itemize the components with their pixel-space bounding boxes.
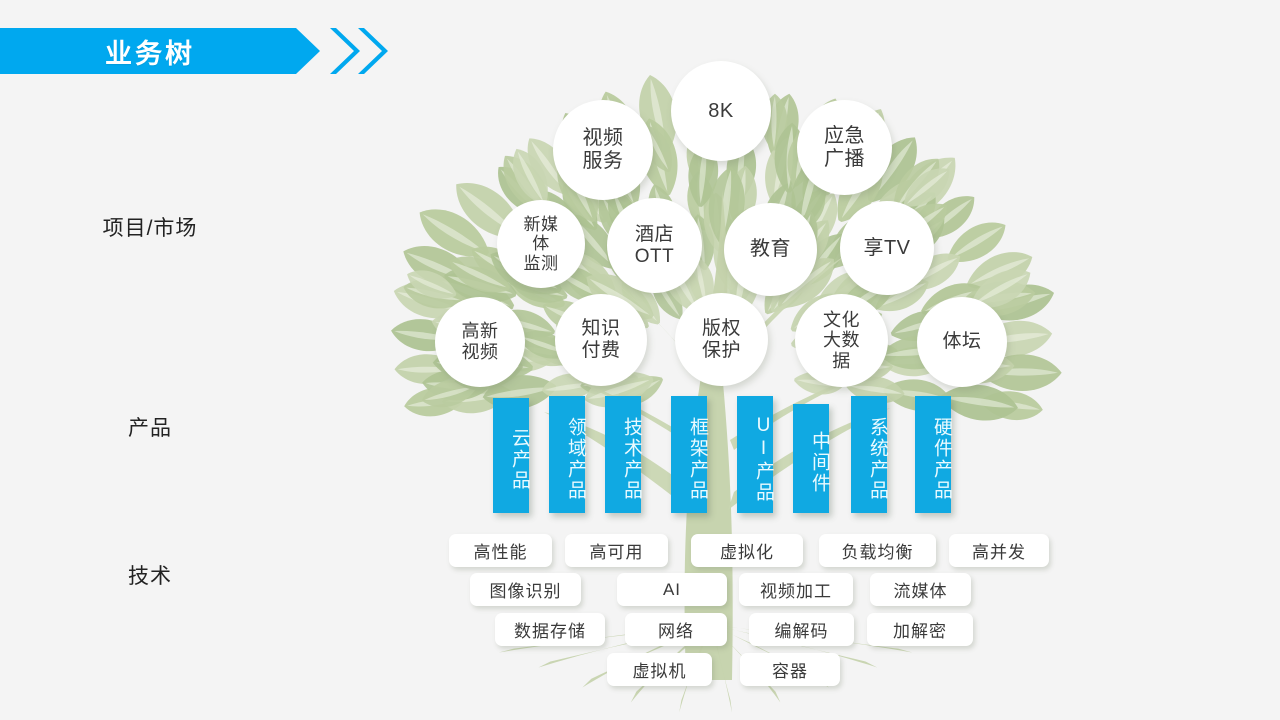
row-label-products: 产品 bbox=[128, 412, 172, 442]
technology-tag[interactable]: 负载均衡 bbox=[819, 534, 936, 567]
technology-tag[interactable]: 流媒体 bbox=[870, 573, 971, 606]
technology-tag[interactable]: 编解码 bbox=[749, 613, 854, 646]
technology-tag[interactable]: 数据存储 bbox=[495, 613, 605, 646]
product-bar[interactable]: 硬件产品 bbox=[915, 396, 951, 513]
product-bar[interactable]: UI产品 bbox=[737, 396, 773, 513]
page-title: 业务树 bbox=[0, 28, 300, 74]
project-node[interactable]: 高新 视频 bbox=[435, 297, 525, 387]
project-node[interactable]: 视频 服务 bbox=[553, 100, 653, 200]
product-bar[interactable]: 技术产品 bbox=[605, 396, 641, 513]
technology-tag[interactable]: 高可用 bbox=[565, 534, 668, 567]
product-bar[interactable]: 系统产品 bbox=[851, 396, 887, 513]
project-node[interactable]: 知识 付费 bbox=[555, 294, 647, 386]
project-node[interactable]: 应急 广播 bbox=[797, 100, 892, 195]
technology-tag[interactable]: 虚拟化 bbox=[691, 534, 803, 567]
title-banner: 业务树 bbox=[0, 28, 400, 74]
chevron-right-icon-2 bbox=[358, 28, 388, 74]
technology-tag[interactable]: 高并发 bbox=[949, 534, 1049, 567]
slide-canvas: 业务树 项目/市场产品技术 视频 服务8K应急 广播新媒 体 监测酒店 OTT教… bbox=[0, 0, 1280, 720]
technology-tag[interactable]: 高性能 bbox=[449, 534, 552, 567]
project-node[interactable]: 享TV bbox=[840, 201, 934, 295]
project-node[interactable]: 酒店 OTT bbox=[607, 198, 702, 293]
technology-tag[interactable]: 网络 bbox=[625, 613, 727, 646]
technology-tag[interactable]: 容器 bbox=[740, 653, 840, 686]
technology-tag[interactable]: 图像识别 bbox=[470, 573, 581, 606]
row-label-technology: 技术 bbox=[128, 560, 172, 590]
product-bar[interactable]: 框架产品 bbox=[671, 396, 707, 513]
technology-tag[interactable]: 视频加工 bbox=[739, 573, 853, 606]
product-bar[interactable]: 中间件 bbox=[793, 404, 829, 513]
product-bar[interactable]: 领域产品 bbox=[549, 396, 585, 513]
technology-tag[interactable]: 虚拟机 bbox=[607, 653, 712, 686]
chevron-right-icon-1 bbox=[330, 28, 360, 74]
project-node[interactable]: 新媒 体 监测 bbox=[497, 200, 585, 288]
project-node[interactable]: 教育 bbox=[724, 203, 817, 296]
project-node[interactable]: 体坛 bbox=[917, 297, 1007, 387]
product-bar[interactable]: 云产品 bbox=[493, 398, 529, 513]
project-node[interactable]: 版权 保护 bbox=[675, 293, 768, 386]
technology-tag[interactable]: AI bbox=[617, 573, 727, 606]
project-node[interactable]: 8K bbox=[671, 61, 771, 161]
project-node[interactable]: 文化 大数 据 bbox=[795, 294, 888, 387]
technology-tag[interactable]: 加解密 bbox=[867, 613, 973, 646]
row-label-projects-market: 项目/市场 bbox=[103, 212, 198, 242]
